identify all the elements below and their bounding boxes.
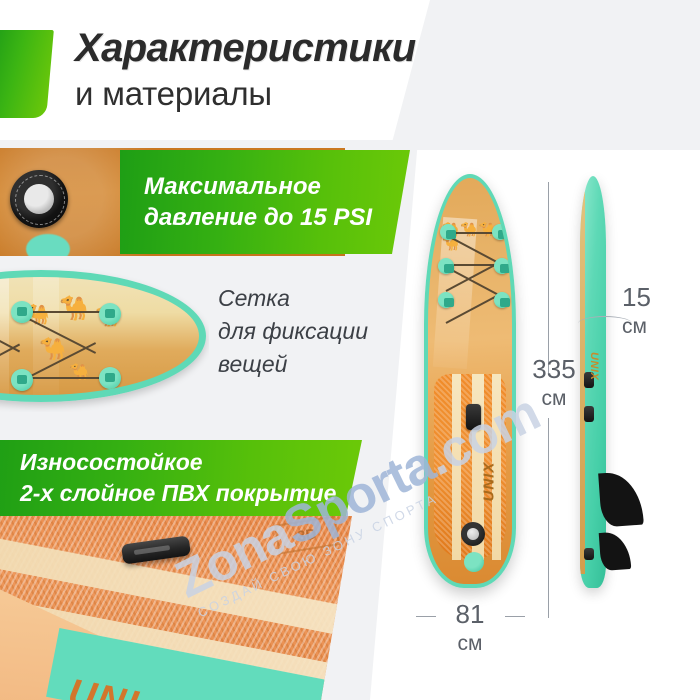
- feature-banner-line2: давление до 15 PSI: [144, 202, 394, 233]
- d-ring: [438, 292, 454, 308]
- d-ring: [440, 224, 456, 240]
- board-top-shell: 🐪🐪🐪🐪 UNIX: [424, 174, 516, 588]
- header-accent-tab: [0, 30, 54, 118]
- d-ring: [11, 369, 33, 391]
- d-ring: [438, 258, 454, 274]
- dimension-unit-width: см: [434, 629, 506, 658]
- camel-graphic: 🐪: [39, 339, 66, 359]
- d-ring: [492, 224, 508, 240]
- valve-photo-teal-accent: [26, 234, 70, 256]
- dimension-tick-width-left: [416, 616, 436, 617]
- d-ring: [11, 301, 33, 323]
- feature-caption-line2: для фиксации: [218, 315, 398, 348]
- page-title-main: Характеристики: [75, 24, 455, 72]
- air-valve: [461, 522, 485, 546]
- page-title: Характеристики и материалы: [75, 24, 455, 115]
- carry-handle: [466, 404, 481, 430]
- deck-pad-stripe: [452, 374, 461, 560]
- board-top-view: 🐪🐪🐪🐪 UNIX: [424, 174, 516, 588]
- d-ring: [99, 303, 121, 325]
- dimension-line-length-lower: [548, 418, 549, 618]
- dimension-label-thickness: 15 см: [622, 283, 684, 341]
- feature-banner-pvc-coating: Износостойкое 2-х слойное ПВХ покрытие: [0, 440, 362, 516]
- d-ring: [99, 367, 121, 389]
- dimension-value-thickness: 15: [622, 282, 651, 312]
- dimension-label-width: 81 см: [434, 600, 506, 658]
- d-ring: [494, 258, 510, 274]
- feature-photo-deck-pad: 3D UNI: [0, 516, 360, 700]
- dimension-label-length: 335 см: [518, 355, 590, 413]
- camel-graphic: 🐪: [59, 299, 89, 319]
- d-ring: [494, 292, 510, 308]
- feature-banner-max-pressure: Максимальное давление до 15 PSI: [120, 150, 410, 254]
- feature-caption-line1: Сетка: [218, 282, 398, 315]
- side-fin: [599, 531, 632, 571]
- feature-caption-cargo-net: Сетка для фиксации вещей: [218, 282, 398, 381]
- dimension-tick-width-right: [505, 616, 525, 617]
- board-nose-illustration: 🐪 🐪 🐪 🐪 🐪: [0, 270, 206, 402]
- feature-banner-line1: Максимальное: [144, 171, 394, 202]
- nose-stripe-2: [0, 277, 9, 395]
- camel-graphic: 🐪: [69, 363, 89, 383]
- board-brand-logo: UNIX: [481, 432, 498, 502]
- page-title-sub: и материалы: [75, 73, 455, 115]
- center-fin: [598, 471, 644, 528]
- dimension-value-width: 81: [456, 599, 485, 629]
- tail-d-ring: [464, 552, 484, 572]
- feature-caption-line3: вещей: [218, 348, 398, 381]
- valve-ring: [15, 175, 65, 225]
- feature-photo-board-nose: 🐪 🐪 🐪 🐪 🐪: [0, 262, 209, 412]
- dimension-unit-length: см: [518, 384, 590, 413]
- dimension-unit-thickness: см: [622, 312, 684, 341]
- feature-banner-line2: 2-х слойное ПВХ покрытие: [20, 478, 336, 509]
- infographic-canvas: Характеристики и материалы Максимальное …: [0, 0, 700, 700]
- tail-handle: [584, 548, 594, 560]
- valve-icon: [10, 170, 68, 228]
- dimension-line-length: [548, 182, 549, 374]
- feature-banner-line1: Износостойкое: [20, 447, 336, 478]
- dimension-value-length: 335: [532, 354, 575, 384]
